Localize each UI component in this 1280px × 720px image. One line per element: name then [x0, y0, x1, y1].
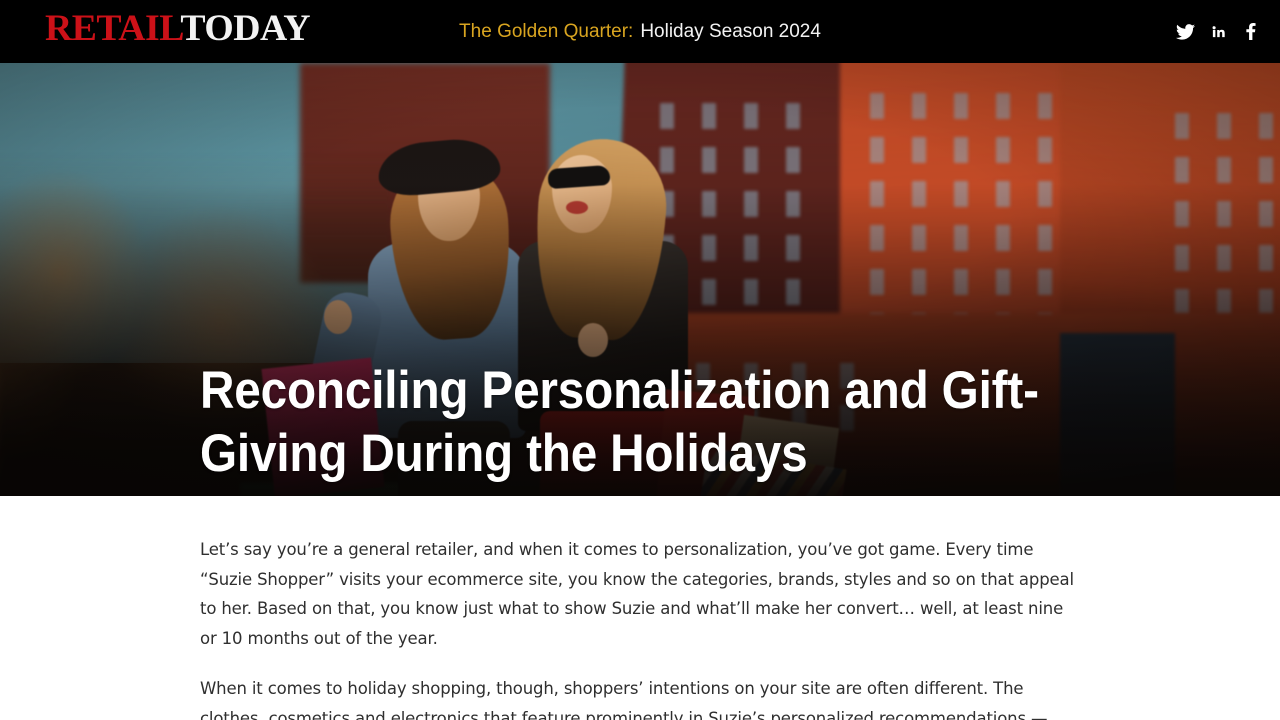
article-column: Let’s say you’re a general retailer, and…	[200, 535, 1080, 720]
linkedin-icon[interactable]	[1207, 21, 1229, 43]
social-links	[1174, 0, 1262, 63]
page-title: Reconciling Personalization and Gift-Giv…	[200, 359, 1079, 485]
hero-text-block: Reconciling Personalization and Gift-Giv…	[200, 359, 1080, 496]
article-paragraph: When it comes to holiday shopping, thoug…	[200, 674, 1080, 720]
site-logo[interactable]: RETAILTODAY	[45, 9, 310, 49]
article-body: Let’s say you’re a general retailer, and…	[0, 496, 1280, 720]
logo-text-today: TODAY	[180, 8, 310, 49]
twitter-icon[interactable]	[1174, 21, 1196, 43]
hero-banner: Reconciling Personalization and Gift-Giv…	[0, 63, 1280, 496]
kicker-label: The Golden Quarter:	[459, 21, 633, 42]
kicker-value: Holiday Season 2024	[640, 21, 821, 42]
site-header: RETAILTODAY The Golden Quarter:Holiday S…	[0, 0, 1280, 63]
article-paragraph: Let’s say you’re a general retailer, and…	[200, 535, 1080, 653]
logo-text-retail: RETAIL	[45, 8, 180, 49]
facebook-icon[interactable]	[1240, 21, 1262, 43]
